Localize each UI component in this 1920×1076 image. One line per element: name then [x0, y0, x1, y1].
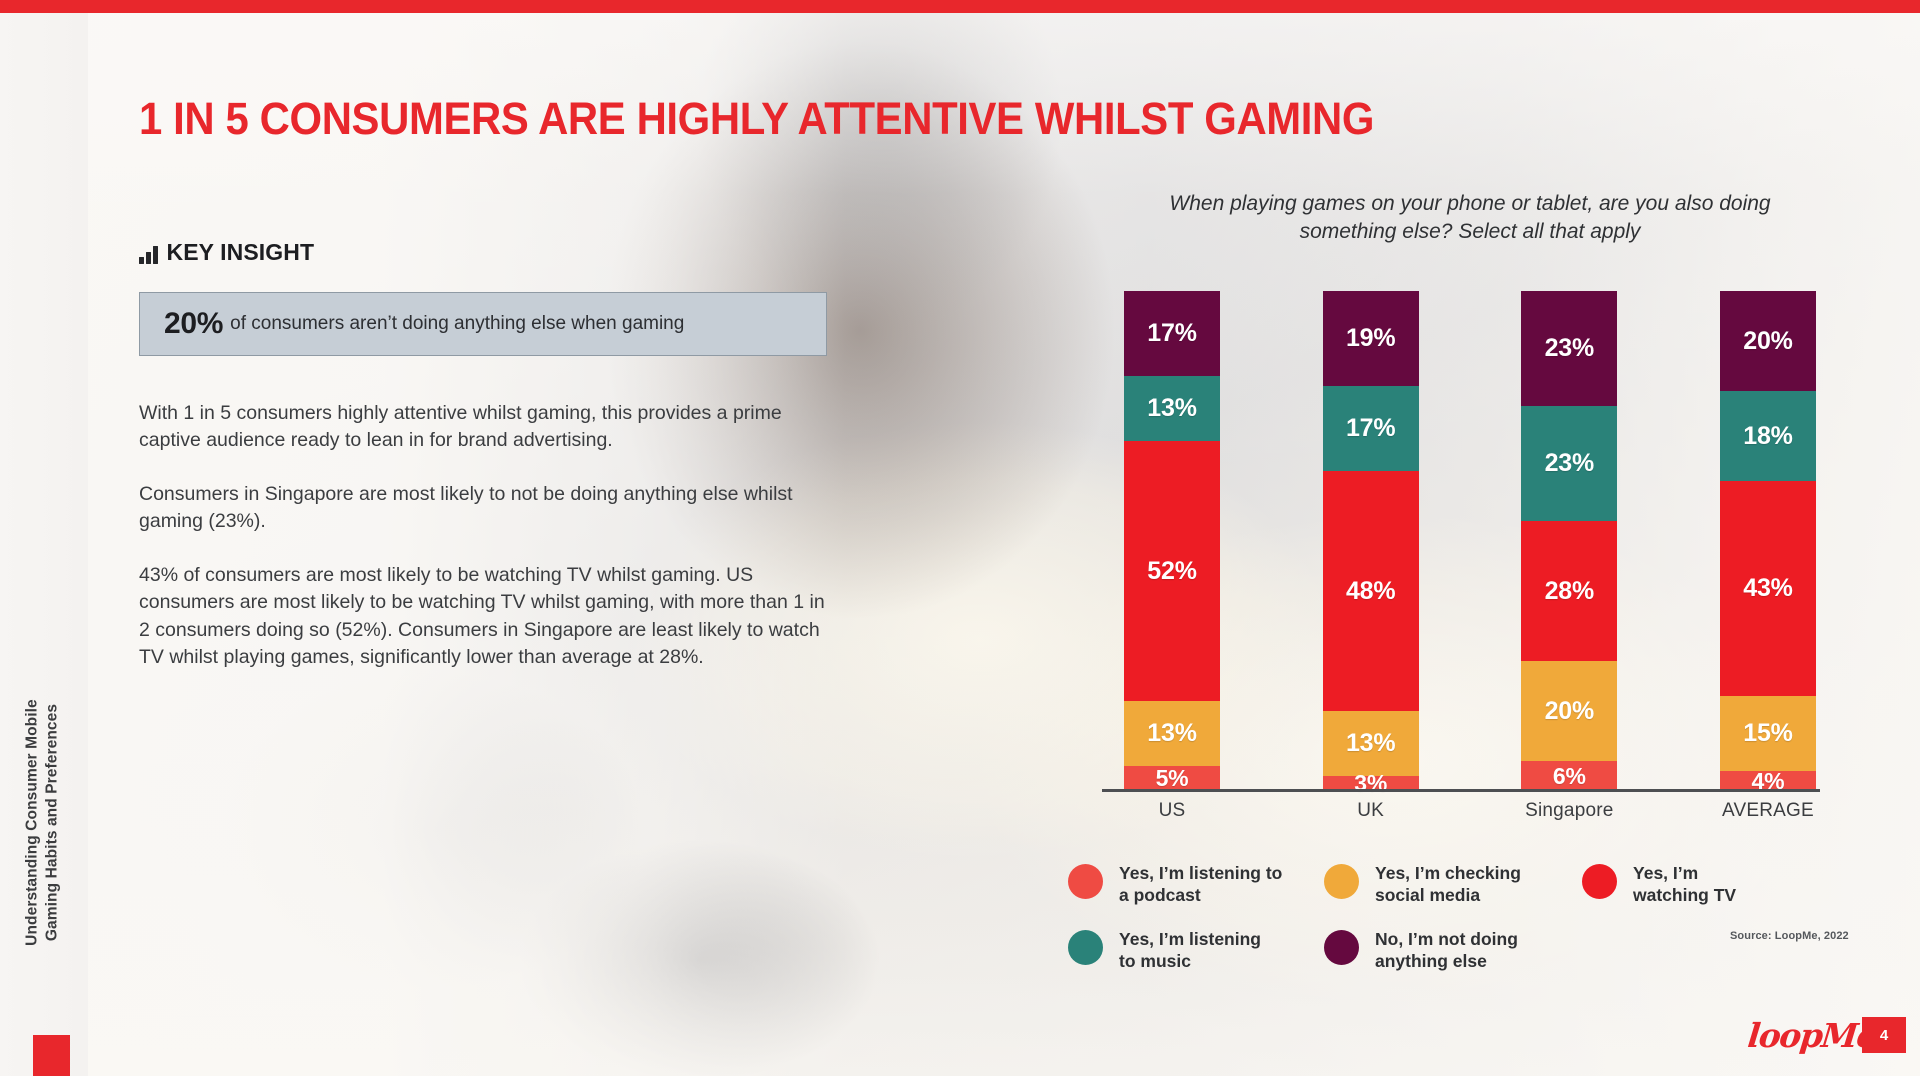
bar-segment-label: 48% — [1346, 577, 1395, 606]
category-label: Singapore — [1521, 800, 1617, 822]
key-stat-callout: 20% of consumers aren’t doing anything e… — [139, 292, 827, 356]
bar-column: 20%18%43%15%4% — [1720, 286, 1816, 791]
bar-segment: 4% — [1720, 771, 1816, 791]
legend-item[interactable]: Yes, I’m watching TV — [1582, 862, 1822, 928]
legend-item[interactable]: Yes, I’m listening to music — [1068, 928, 1316, 994]
left-rail: Understanding Consumer Mobile Gaming Hab… — [0, 13, 88, 1076]
bar-segment: 52% — [1124, 441, 1220, 701]
bar-segment-label: 20% — [1545, 697, 1594, 726]
stacked-bar-chart: 17%13%52%13%5%19%17%48%13%3%23%23%28%20%… — [1100, 286, 1840, 796]
legend-label: Yes, I’m listening to music — [1119, 928, 1261, 973]
legend-item[interactable]: Yes, I’m checking social media — [1324, 862, 1574, 928]
bar-segment: 28% — [1521, 521, 1617, 661]
deck-title-vertical: Understanding Consumer Mobile Gaming Hab… — [22, 613, 61, 1033]
bar-segment-label: 17% — [1346, 414, 1395, 443]
body-paragraph: Consumers in Singapore are most likely t… — [139, 481, 839, 536]
bar-segment: 43% — [1720, 481, 1816, 696]
page-number-badge: 4 — [1862, 1017, 1906, 1053]
legend-swatch-icon — [1068, 864, 1103, 899]
key-stat-text: of consumers aren’t doing anything else … — [230, 313, 684, 335]
bar-segment: 17% — [1323, 386, 1419, 471]
legend-swatch-icon — [1324, 930, 1359, 965]
key-stat-value: 20% — [164, 307, 223, 341]
bar-segment-label: 28% — [1545, 577, 1594, 606]
bar-segment-label: 5% — [1156, 765, 1189, 792]
chart-question: When playing games on your phone or tabl… — [1120, 190, 1820, 246]
bar-segment: 20% — [1720, 291, 1816, 391]
bar-column: 23%23%28%20%6% — [1521, 286, 1617, 791]
chart-plot-area: 17%13%52%13%5%19%17%48%13%3%23%23%28%20%… — [1100, 286, 1840, 791]
bar-segment: 13% — [1124, 376, 1220, 441]
body-paragraph: With 1 in 5 consumers highly attentive w… — [139, 400, 839, 455]
bar-segment: 5% — [1124, 766, 1220, 791]
chart-category-labels: USUKSingaporeAVERAGE — [1100, 800, 1840, 822]
chart-source-note: Source: LoopMe, 2022 — [1730, 930, 1849, 942]
chart-legend: Yes, I’m listening to a podcastYes, I’m … — [1068, 862, 1858, 994]
bar-segment: 19% — [1323, 291, 1419, 386]
bar-segment: 23% — [1521, 291, 1617, 406]
legend-item[interactable]: No, I’m not doing anything else — [1324, 928, 1574, 994]
bar-segment-label: 3% — [1354, 770, 1387, 797]
bar-segment-label: 20% — [1743, 327, 1792, 356]
category-label: AVERAGE — [1720, 800, 1816, 822]
chart-axis-line — [1102, 789, 1820, 792]
bar-segment-label: 15% — [1743, 719, 1792, 748]
bar-segment: 15% — [1720, 696, 1816, 771]
bar-column: 19%17%48%13%3% — [1323, 286, 1419, 791]
bar-segment-label: 13% — [1346, 729, 1395, 758]
top-accent-bar — [0, 0, 1920, 13]
legend-swatch-icon — [1324, 864, 1359, 899]
slide-canvas: Understanding Consumer Mobile Gaming Hab… — [0, 0, 1920, 1076]
bar-column: 17%13%52%13%5% — [1124, 286, 1220, 791]
legend-swatch-icon — [1582, 864, 1617, 899]
rail-accent-block — [33, 1035, 70, 1076]
key-insight-label: KEY INSIGHT — [167, 241, 315, 264]
bar-chart-icon — [139, 246, 158, 264]
bar-segment: 20% — [1521, 661, 1617, 761]
category-label: US — [1124, 800, 1220, 822]
bar-segment: 17% — [1124, 291, 1220, 376]
bar-segment-label: 13% — [1147, 394, 1196, 423]
bar-segment: 18% — [1720, 391, 1816, 481]
bar-segment-label: 13% — [1147, 719, 1196, 748]
bar-segment-label: 23% — [1545, 449, 1594, 478]
legend-label: Yes, I’m listening to a podcast — [1119, 862, 1282, 907]
bar-segment-label: 19% — [1346, 324, 1395, 353]
body-paragraph: 43% of consumers are most likely to be w… — [139, 562, 839, 672]
bar-segment: 13% — [1124, 701, 1220, 766]
legend-label: Yes, I’m checking social media — [1375, 862, 1521, 907]
body-copy: With 1 in 5 consumers highly attentive w… — [139, 400, 839, 698]
bar-segment-label: 18% — [1743, 422, 1792, 451]
bar-segment-label: 43% — [1743, 574, 1792, 603]
legend-item[interactable]: Yes, I’m listening to a podcast — [1068, 862, 1316, 928]
legend-swatch-icon — [1068, 930, 1103, 965]
bar-segment-label: 6% — [1553, 763, 1586, 790]
bar-segment: 13% — [1323, 711, 1419, 776]
key-insight-heading: KEY INSIGHT — [139, 241, 314, 264]
bar-segment-label: 17% — [1147, 319, 1196, 348]
bar-segment-label: 52% — [1147, 557, 1196, 586]
bar-segment: 48% — [1323, 471, 1419, 711]
bar-segment-label: 23% — [1545, 334, 1594, 363]
bar-segment: 23% — [1521, 406, 1617, 521]
bar-segment: 6% — [1521, 761, 1617, 791]
page-title: 1 IN 5 CONSUMERS ARE HIGHLY ATTENTIVE WH… — [139, 95, 1385, 143]
category-label: UK — [1323, 800, 1419, 822]
legend-label: No, I’m not doing anything else — [1375, 928, 1518, 973]
legend-label: Yes, I’m watching TV — [1633, 862, 1736, 907]
